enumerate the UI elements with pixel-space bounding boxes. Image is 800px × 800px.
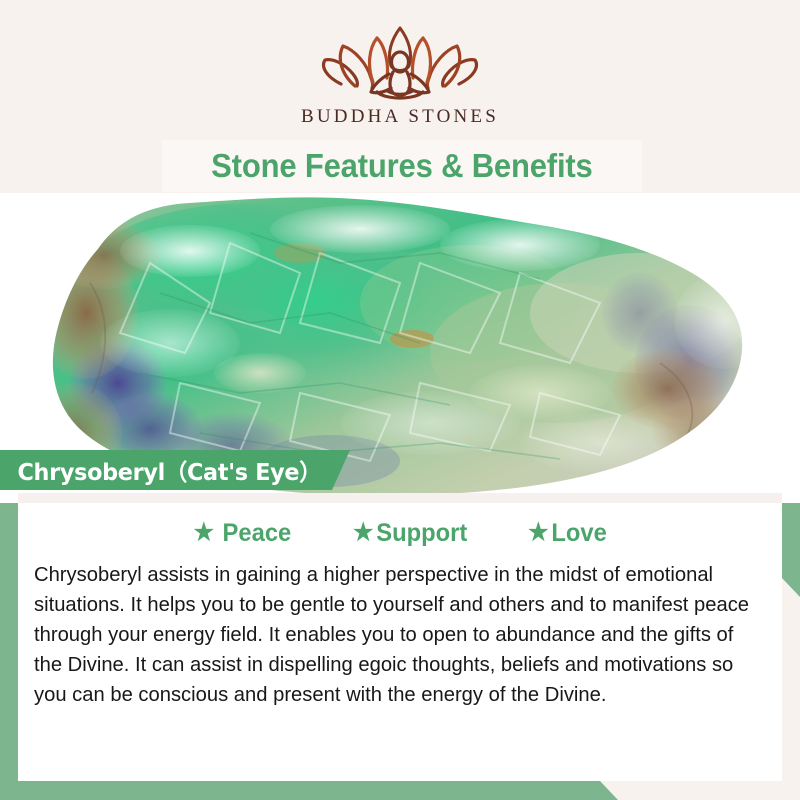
benefit-tag-list: ★ Peace ★ Support ★ Love xyxy=(18,513,782,553)
header: BUDDHA STONES Stone Features & Benefits xyxy=(0,0,800,195)
benefit-tag-love: ★ Love xyxy=(528,519,607,548)
lotus-meditation-icon xyxy=(315,22,485,102)
stone-name-text: Chrysoberyl（Cat's Eye） xyxy=(0,453,321,487)
benefit-tag-peace: ★ Peace xyxy=(194,519,292,548)
benefit-label: Peace xyxy=(223,519,292,548)
panel-top-strip xyxy=(18,493,782,503)
page-title-text: Stone Features & Benefits xyxy=(211,147,592,185)
brand-name: BUDDHA STONES xyxy=(301,106,499,128)
page-title: Stone Features & Benefits xyxy=(162,140,642,192)
stone-name-banner: Chrysoberyl（Cat's Eye） xyxy=(0,450,350,490)
frame-band-bottom xyxy=(0,781,800,800)
benefit-label: Support xyxy=(376,519,467,548)
star-icon: ★ xyxy=(528,521,548,545)
description-text: Chrysoberyl assists in gaining a higher … xyxy=(34,560,758,710)
star-icon: ★ xyxy=(353,521,373,545)
star-icon: ★ xyxy=(194,521,214,545)
benefit-label: Love xyxy=(552,519,607,548)
benefit-tag-support: ★ Support xyxy=(353,519,467,548)
brand-logo: BUDDHA STONES xyxy=(0,22,800,128)
